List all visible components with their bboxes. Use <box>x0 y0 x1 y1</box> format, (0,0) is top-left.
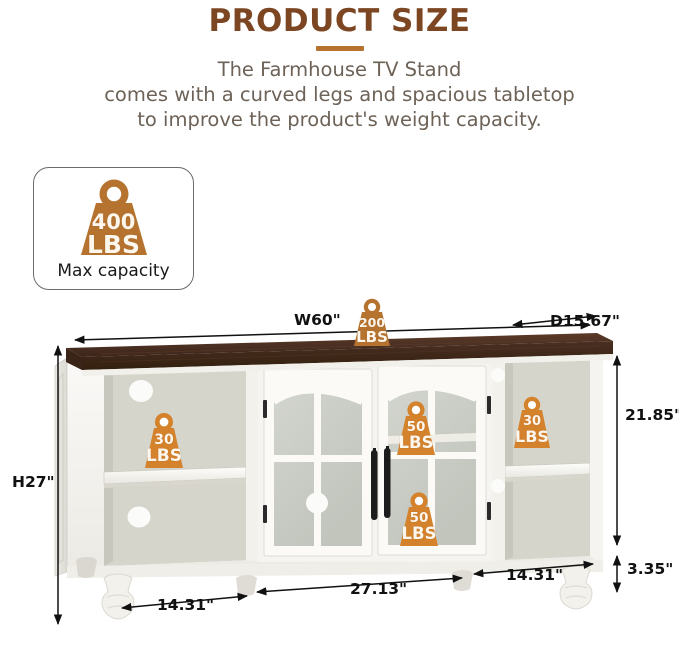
product-size-infographic: PRODUCT SIZE The Farmhouse TV Stand come… <box>0 0 679 656</box>
door-handle-left <box>371 448 378 520</box>
leg-rear-left <box>76 557 97 578</box>
dimension-leg-height: 3.35" <box>627 560 673 578</box>
glass-door-left <box>263 369 372 556</box>
center-cabinet <box>258 357 492 562</box>
dimension-left-section: 14.31" <box>157 596 214 614</box>
right-open-bay <box>491 347 603 566</box>
dimension-center-section: 27.13" <box>350 580 407 598</box>
weight-badge-center-lower-unit: LBS <box>395 526 443 543</box>
dimension-height: H27" <box>12 473 55 491</box>
weight-badge-tabletop: 200 LBS <box>348 298 396 348</box>
weight-badge-left-shelf: 30 LBS <box>139 412 189 470</box>
weight-badge-center-upper-unit: LBS <box>392 435 440 452</box>
weight-badge-left-shelf-value: 30 <box>139 433 189 447</box>
door-handle-right <box>384 446 391 518</box>
dimension-width: W60" <box>294 311 341 329</box>
weight-badge-center-upper: 50 LBS <box>392 401 440 457</box>
dimension-right-section: 14.31" <box>506 566 563 584</box>
weight-badge-right-shelf-unit: LBS <box>509 429 555 445</box>
weight-badge-right-shelf: 30 LBS <box>509 396 555 450</box>
dimension-depth: D15.67" <box>550 312 620 330</box>
weight-badge-center-lower: 50 LBS <box>395 492 443 548</box>
leg-mid-left <box>236 575 257 596</box>
weight-badge-tabletop-unit: LBS <box>348 330 396 345</box>
leg-front-right <box>560 566 592 609</box>
leg-mid-right <box>452 570 473 591</box>
leg-front-left <box>102 574 134 619</box>
weight-badge-left-shelf-unit: LBS <box>139 448 189 465</box>
dimension-body-height: 21.85" <box>625 406 679 424</box>
